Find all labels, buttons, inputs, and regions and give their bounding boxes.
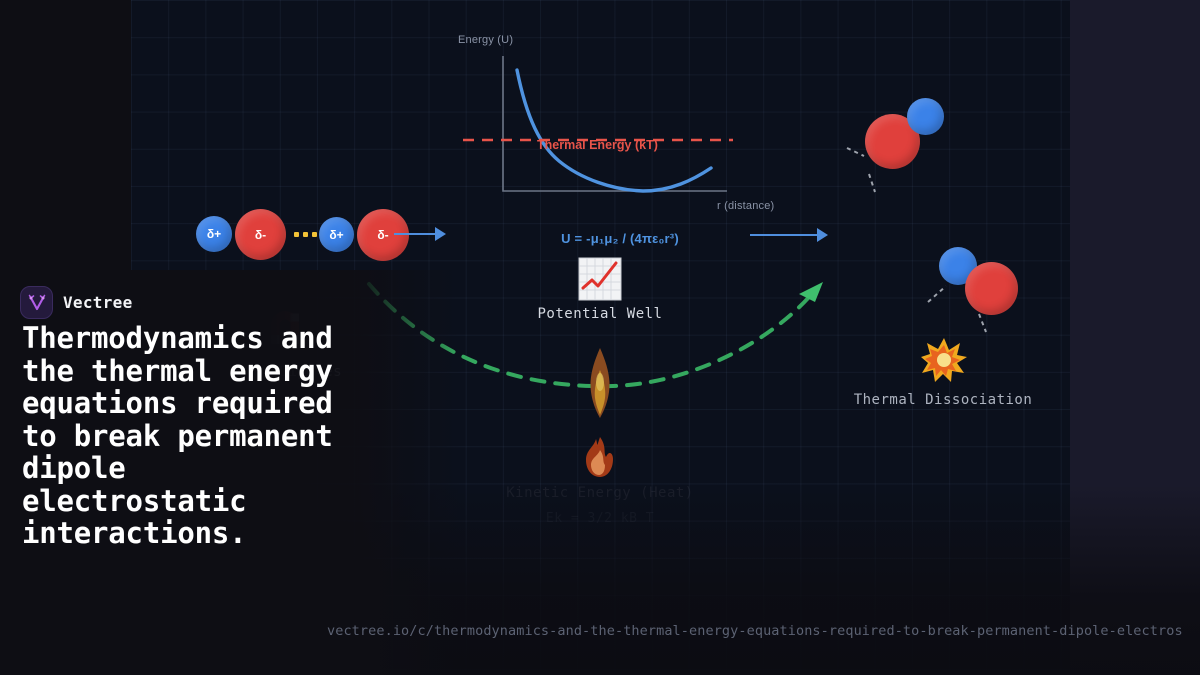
atom-delta-plus-2: δ+ [319, 217, 354, 252]
plot-axes [503, 56, 727, 191]
y-axis-label: Energy (U) [458, 34, 513, 46]
vibration-lines-upper [845, 140, 847, 200]
potential-curve [517, 70, 711, 191]
bond-dot [312, 232, 317, 237]
thermal-energy-label: Thermal Energy (kT) [537, 138, 658, 152]
slide-canvas: Energy (U) r (distance) Thermal Energy (… [0, 0, 1200, 675]
transition-arc-arrowhead [799, 282, 823, 302]
atom-delta-plus-1: δ+ [196, 216, 232, 252]
fire-emoji [580, 436, 620, 482]
collision-emoji [921, 337, 967, 387]
x-axis-label: r (distance) [717, 200, 774, 212]
bond-dot [303, 232, 308, 237]
page-title: Thermodynamics and the thermal energy eq… [22, 322, 352, 550]
bond-dot [294, 232, 299, 237]
free-state-arrow-line [750, 234, 818, 236]
dipole-potential-formula: U = -μ₁μ₂ / (4πε₀r³) [455, 231, 785, 246]
potential-energy-plot: Energy (U) r (distance) Thermal Energy (… [455, 28, 785, 218]
atom-delta-minus-2: δ- [357, 209, 409, 261]
candle-emoji [585, 348, 615, 424]
vectree-logo-icon [20, 286, 53, 319]
brand-name: Vectree [63, 293, 133, 312]
thermal-dissociation-caption: Thermal Dissociation [843, 392, 1043, 408]
free-atom-positive-1 [907, 98, 944, 135]
atom-label: δ+ [207, 227, 221, 241]
atom-label: δ- [255, 228, 266, 242]
atom-label: δ+ [329, 228, 343, 242]
brand-lockup: Vectree [20, 286, 133, 319]
vibration-lines-lower [926, 276, 928, 336]
atom-delta-minus-1: δ- [235, 209, 286, 260]
bound-state-arrow-head [435, 227, 446, 241]
bound-state-arrow-line [394, 233, 436, 235]
atom-label: δ- [377, 228, 388, 242]
source-url: vectree.io/c/thermodynamics-and-the-ther… [327, 623, 1200, 639]
free-state-arrow-head [817, 228, 828, 242]
